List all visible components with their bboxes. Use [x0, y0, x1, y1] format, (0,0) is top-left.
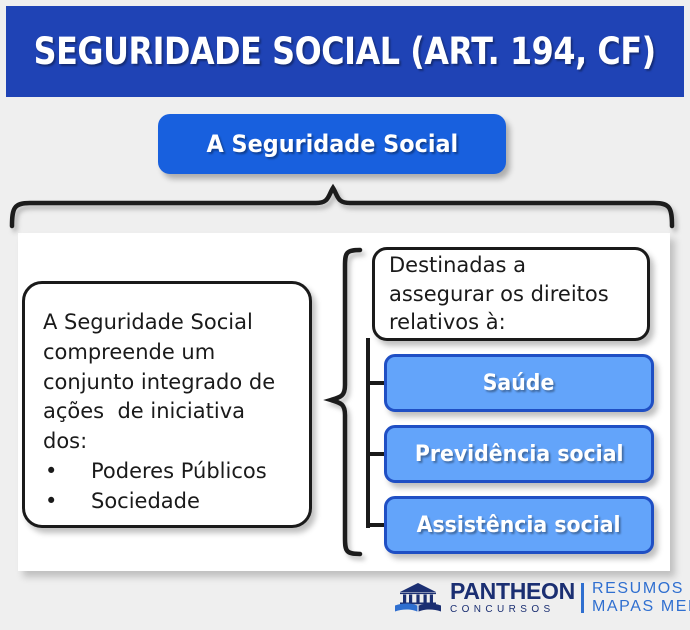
logo-brand: PANTHEON [450, 580, 575, 603]
list-item: Poderes Públicos [43, 457, 295, 487]
pillar-label: Saúde [483, 371, 555, 396]
pillar-label: Assistência social [417, 513, 621, 538]
pillar-label: Previdência social [415, 442, 624, 467]
pillar-node-assistencia: Assistência social [384, 496, 654, 554]
pillar-connector-stub [366, 452, 386, 456]
purpose-card: Destinadas a assegurar os direitos relat… [372, 247, 650, 341]
purpose-text: Destinadas a assegurar os direitos relat… [389, 251, 635, 337]
logo-divider [581, 583, 584, 613]
logo-tagline-line-2: MAPAS MENTAIS [592, 598, 690, 616]
subtitle-node: A Seguridade Social [158, 114, 506, 174]
header-banner: SEGURIDADE SOCIAL (ART. 194, CF) [6, 6, 684, 97]
definition-bullet-list: Poderes Públicos Sociedade [43, 457, 295, 517]
mind-map-slide: SEGURIDADE SOCIAL (ART. 194, CF) A Segur… [0, 0, 690, 630]
logo-wordmark: PANTHEON CONCURSOS [450, 580, 575, 616]
subtitle-label: A Seguridade Social [206, 130, 458, 158]
logo-tagline-line-1: RESUMOS & [592, 580, 690, 598]
definition-card: A Seguridade Social compreende um conjun… [22, 281, 312, 528]
logo-tagline: RESUMOS & MAPAS MENTAIS [592, 580, 690, 616]
pillar-node-saude: Saúde [384, 354, 654, 412]
footer-logo: PANTHEON CONCURSOS RESUMOS & MAPAS MENTA… [392, 578, 690, 618]
logo-brand-sub: CONCURSOS [450, 603, 575, 616]
pillar-connector-spine [366, 338, 370, 528]
page-title: SEGURIDADE SOCIAL (ART. 194, CF) [34, 30, 656, 73]
pillar-connector-stub [366, 381, 386, 385]
pillar-node-previdencia: Previdência social [384, 425, 654, 483]
list-item: Sociedade [43, 487, 295, 517]
pantheon-temple-book-icon [392, 581, 444, 615]
definition-paragraph: A Seguridade Social compreende um conjun… [43, 308, 295, 457]
top-brace-icon [12, 188, 672, 226]
pillar-connector-stub [366, 523, 386, 527]
